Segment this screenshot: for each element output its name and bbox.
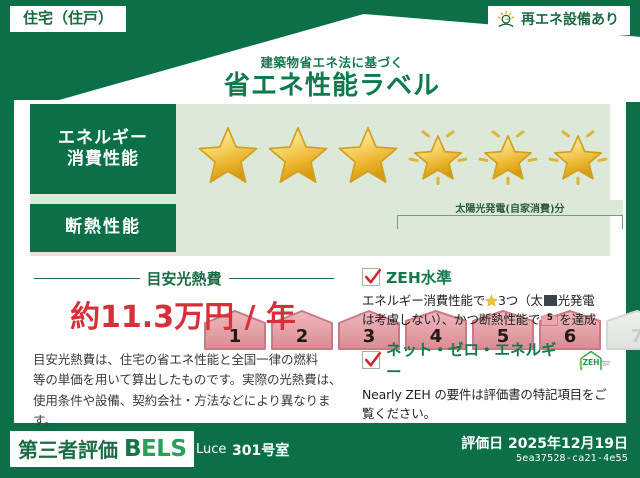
star-icon — [194, 121, 262, 189]
zeh-standard-block: ZEH水準 エネルギー消費性能で3つ（太光発電 は考慮しない）、かつ断熱性能で5… — [362, 266, 610, 329]
renewable-energy-badge: 再エネ設備あり — [488, 6, 630, 35]
grade-number: 3 — [363, 326, 376, 351]
grade-number: 4 — [430, 326, 443, 351]
note-line-2: 等の単価を用いて算出したものです。実際の光熱費は、 — [33, 370, 343, 390]
insulation-performance-row-label: 断熱性能 — [30, 204, 176, 252]
grade-number: 5 — [497, 326, 510, 351]
rule-right — [229, 278, 335, 280]
zeh-body-text-c: 光発電 — [558, 293, 595, 308]
redacted-block — [544, 295, 557, 306]
zeh-standard-title: ZEH水準 — [386, 266, 452, 288]
checkbox-checked-icon — [362, 268, 380, 286]
renewable-badge-label: 再エネ設備あり — [521, 13, 619, 27]
grade-number: 1 — [229, 326, 242, 351]
insulation-grade-7: 7 — [605, 309, 640, 351]
sun-icon — [496, 10, 516, 30]
zeh-standard-header: ZEH水準 — [362, 266, 610, 288]
grade-number: 6 — [564, 326, 577, 351]
zeh-body-text-d: は考慮しない）、かつ断熱性能で — [362, 312, 540, 327]
utility-cost-heading: 目安光熱費 — [34, 268, 334, 289]
bels-logo-b: B — [124, 436, 141, 462]
lower-content: 目安光熱費 約11.3万円 / 年 目安光熱費は、住宅の省エネ性能と全国一律の燃… — [30, 266, 610, 416]
zeh-standard-body: エネルギー消費性能で3つ（太光発電 は考慮しない）、かつ断熱性能で5を達成 — [362, 291, 610, 329]
page-title: 省エネ性能ラベル — [224, 72, 440, 100]
solar-caption: 太陽光発電(自家消費)分 — [397, 200, 623, 215]
nze-body-line-2: 覧ください。 — [362, 404, 610, 423]
energy-performance-label: 建築物省エネ法に基づく 省エネ性能ラベル 住宅（住戸） 再エネ設備あり — [0, 0, 640, 478]
title-subtitle: 建築物省エネ法に基づく — [260, 52, 403, 71]
building-type-tag: 住宅（住戸） — [10, 6, 126, 32]
utility-cost-note: 目安光熱費は、住宅の省エネ性能と全国一律の燃料 等の単価を用いて算出したものです… — [33, 350, 343, 431]
zeh-body-text-e: を達成 — [559, 312, 596, 327]
third-party-evaluation-label: 第三者評価 — [18, 434, 118, 463]
evaluation-date: 評価日 2025年12月19日 — [461, 433, 628, 453]
energy-label-line2: 消費性能 — [58, 149, 148, 170]
solar-star-icon — [544, 121, 612, 189]
property-name: Luce — [196, 442, 226, 457]
star-icon — [485, 293, 498, 308]
net-zero-energy-title: ネット・ゼロ・エネルギー — [386, 338, 567, 382]
svg-text:ZEH: ZEH — [583, 358, 600, 367]
solar-star-icon — [404, 121, 472, 189]
nze-body-line-1: Nearly ZEH の要件は評価書の特記項目をご — [362, 385, 610, 404]
star-icon — [264, 121, 332, 189]
star-icon — [334, 121, 402, 189]
inline-grade-number: 5 — [541, 313, 558, 326]
zeh-body-text-a: エネルギー消費性能で — [362, 293, 485, 308]
energy-performance-row-label: エネルギー 消費性能 — [30, 104, 176, 194]
room-number: 301号室 — [232, 440, 289, 460]
bels-logo: BELS — [124, 436, 186, 462]
solar-bracket — [397, 215, 623, 229]
label-footer: 第三者評価 BELS Luce 301号室 評価日 2025年12月19日 5e… — [0, 423, 640, 478]
bels-certification-badge: 第三者評価 BELS — [10, 431, 194, 467]
solar-star-icon — [474, 121, 542, 189]
bels-logo-els: ELS — [141, 436, 186, 462]
inline-grade-badge: 5 — [541, 313, 558, 326]
net-zero-energy-body: Nearly ZEH の要件は評価書の特記項目をご 覧ください。 — [362, 385, 610, 423]
zeh-body-text-b: 3つ（太 — [498, 293, 543, 308]
checkbox-checked-icon — [362, 351, 380, 369]
zeh-logo-icon: ZEH Nearly ZEH — [573, 349, 610, 371]
grade-number: 7 — [631, 326, 640, 351]
utility-cost-heading-text: 目安光熱費 — [147, 268, 222, 289]
utility-cost-value: 約11.3万円 / 年 — [30, 292, 336, 336]
evaluation-id: 5ea37528-ca21-4e55 — [516, 453, 628, 464]
energy-label-line1: エネルギー — [58, 128, 148, 149]
label-body-card: エネルギー 消費性能 — [14, 100, 626, 423]
grade-number: 2 — [296, 326, 309, 351]
rule-left — [34, 278, 140, 280]
energy-star-rating — [194, 118, 614, 192]
note-line-1: 目安光熱費は、住宅の省エネ性能と全国一律の燃料 — [33, 350, 343, 370]
svg-text:ZEH: ZEH — [603, 363, 609, 367]
